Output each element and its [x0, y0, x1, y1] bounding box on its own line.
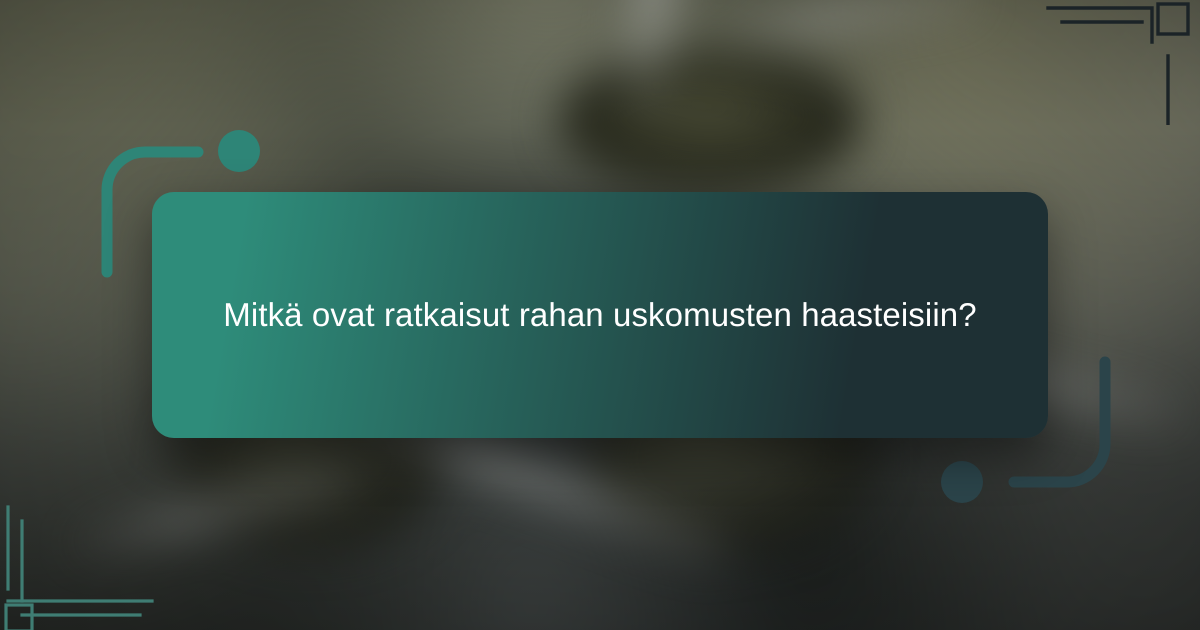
- accent-dot-top-left: [218, 130, 260, 172]
- accent-dot-bottom-right: [941, 461, 983, 503]
- question-card: Mitkä ovat ratkaisut rahan uskomusten ha…: [152, 192, 1048, 438]
- question-title: Mitkä ovat ratkaisut rahan uskomusten ha…: [223, 288, 976, 341]
- poster-canvas: Mitkä ovat ratkaisut rahan uskomusten ha…: [0, 0, 1200, 630]
